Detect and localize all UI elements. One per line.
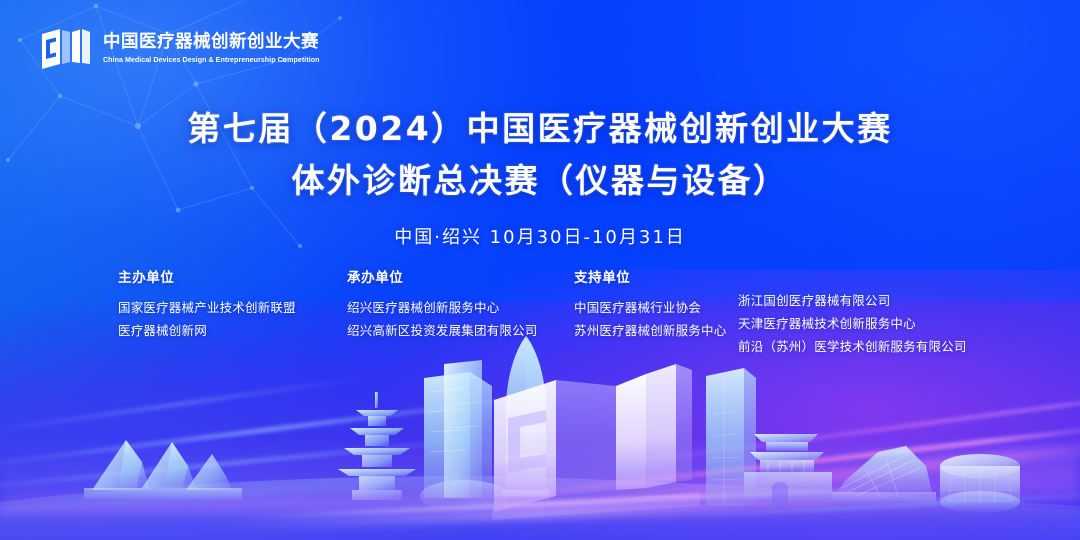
organizer-item: 中国医疗器械行业协会 [574, 296, 726, 319]
organizer-column-supporter: 支持单位 中国医疗器械行业协会 苏州医疗器械创新服务中心 [574, 266, 726, 342]
organizer-item: 绍兴医疗器械创新服务中心 [347, 296, 538, 319]
logo-chinese-name: 中国医疗器械创新创业大赛 [103, 33, 329, 53]
organizer-column-host: 主办单位 国家医疗器械产业技术创新联盟 医疗器械创新网 [118, 266, 296, 342]
logo-english-name: China Medical Devices Design & Entrepren… [103, 55, 320, 64]
organizer-column-undertaker: 承办单位 绍兴医疗器械创新服务中心 绍兴高新区投资发展集团有限公司 [347, 266, 538, 342]
brand-logo: 中国医疗器械创新创业大赛 China Medical Devices Desig… [40, 26, 329, 71]
organizer-item: 医疗器械创新网 [118, 319, 296, 342]
organizer-heading: 承办单位 [347, 266, 538, 286]
banner-stage: 中国医疗器械创新创业大赛 China Medical Devices Desig… [0, 0, 1080, 540]
organizer-heading: 主办单位 [118, 266, 296, 286]
event-title-line-2: 体外诊断总决赛（仪器与设备） [0, 158, 1080, 204]
organizer-item: 浙江国创医疗器械有限公司 [738, 289, 967, 312]
organizer-item: 天津医疗器械技术创新服务中心 [738, 312, 967, 335]
organizer-column-supporter-overflow: 浙江国创医疗器械有限公司 天津医疗器械技术创新服务中心 前沿（苏州）医学技术创新… [738, 266, 967, 358]
ancient-gate-tower [744, 434, 832, 506]
organizer-item: 国家医疗器械产业技术创新联盟 [118, 296, 296, 319]
organizer-item: 绍兴高新区投资发展集团有限公司 [347, 319, 538, 342]
sail-shell-building [84, 440, 242, 500]
event-location-date: 中国·绍兴 10月30日-10月31日 [0, 223, 1080, 249]
organizer-heading: 支持单位 [574, 266, 726, 286]
organizer-item: 前沿（苏州）医学技术创新服务有限公司 [738, 335, 967, 358]
stepped-stadium [832, 446, 936, 504]
organizer-heading-spacer [738, 266, 967, 289]
organizer-item: 苏州医疗器械创新服务中心 [574, 319, 726, 342]
organizers-block: 主办单位 国家医疗器械产业技术创新联盟 医疗器械创新网 承办单位 绍兴医疗器械创… [118, 266, 998, 366]
title-block: 第七届（2024）中国医疗器械创新创业大赛 体外诊断总决赛（仪器与设备） 中国·… [0, 106, 1080, 249]
round-arena [940, 454, 1020, 513]
cmdc-open-book-logo-icon [40, 26, 92, 71]
event-title-line-1: 第七届（2024）中国医疗器械创新创业大赛 [0, 106, 1080, 152]
